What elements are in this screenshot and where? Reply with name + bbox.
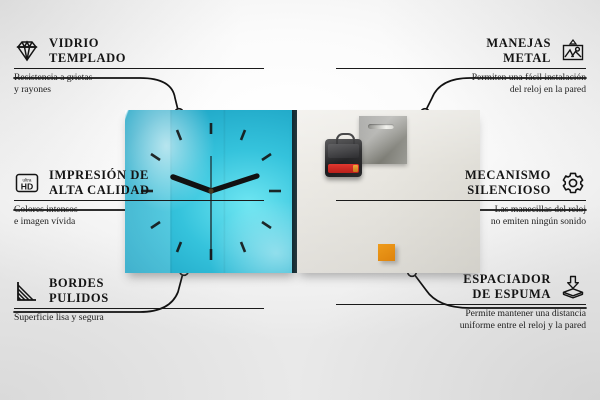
- feature-subtitle-line1: Superficie lisa y segura: [14, 312, 104, 323]
- feature-title-line1: MANEJAS: [486, 36, 551, 50]
- feature-vidrio-templado: VIDRIO TEMPLADO Resistencia a grietas y …: [14, 36, 264, 95]
- feature-subtitle-line2: uniforme entre el reloj y la pared: [460, 320, 586, 331]
- feature-mecanismo-silencioso: MECANISMO SILENCIOSO Las manecillas del …: [336, 168, 586, 227]
- metal-hanger-plate: [359, 116, 407, 164]
- feature-header: MANEJAS METAL: [336, 36, 586, 65]
- feature-title: ESPACIADOR DE ESPUMA: [463, 272, 551, 301]
- feature-subtitle-line2: del reloj en la pared: [510, 84, 586, 95]
- feature-title: MECANISMO SILENCIOSO: [465, 168, 551, 197]
- feature-subtitle: Las manecillas del reloj no emiten ningú…: [336, 204, 586, 227]
- feature-subtitle-line1: Permite mantener una distancia: [465, 308, 586, 319]
- svg-text:HD: HD: [21, 181, 33, 191]
- feature-divider: [14, 308, 264, 309]
- feature-title: MANEJAS METAL: [486, 36, 551, 65]
- feature-subtitle: Permite mantener una distancia uniforme …: [336, 308, 586, 331]
- feature-subtitle-line1: Colores intensos: [14, 204, 78, 215]
- feature-title-line2: METAL: [503, 51, 551, 65]
- feature-bordes-pulidos: BORDES PULIDOS Superficie lisa y segura: [14, 276, 264, 324]
- feature-subtitle-line1: Permiten una fácil instalación: [472, 72, 586, 83]
- feature-subtitle-line1: Las manecillas del reloj: [495, 204, 586, 215]
- movement-hanging-loop: [336, 133, 355, 144]
- feature-subtitle: Superficie lisa y segura: [14, 312, 264, 324]
- beveled-edge-icon: [14, 278, 40, 304]
- feature-divider: [336, 200, 586, 201]
- feature-divider: [14, 200, 264, 201]
- ultra-hd-icon: ultra HD: [14, 170, 40, 196]
- diamond-icon: [14, 38, 40, 64]
- foam-spacer-pad: [378, 244, 395, 261]
- feature-header: BORDES PULIDOS: [14, 276, 264, 305]
- feature-title-line2: TEMPLADO: [49, 51, 126, 65]
- feature-manejas-metal: MANEJAS METAL Permiten una fácil instala…: [336, 36, 586, 95]
- feature-title-line2: ALTA CALIDAD: [49, 183, 150, 197]
- movement-housing-detail: [328, 144, 359, 158]
- feature-title-line2: DE ESPUMA: [472, 287, 551, 301]
- feature-title: VIDRIO TEMPLADO: [49, 36, 126, 65]
- arrow-onto-pad-icon: [560, 274, 586, 300]
- feature-subtitle-line2: no emiten ningún sonido: [491, 216, 586, 227]
- feature-subtitle-line1: Resistencia a grietas: [14, 72, 92, 83]
- feature-header: ultra HD IMPRESIÓN DE ALTA CALIDAD: [14, 168, 264, 197]
- feature-divider: [336, 304, 586, 305]
- feature-title-line1: ESPACIADOR: [463, 272, 551, 286]
- feature-header: MECANISMO SILENCIOSO: [336, 168, 586, 197]
- hanger-slot: [368, 124, 394, 129]
- feature-title-line1: MECANISMO: [465, 168, 551, 182]
- feature-title-line1: IMPRESIÓN DE: [49, 168, 149, 182]
- feature-title-line2: PULIDOS: [49, 291, 109, 305]
- feature-title-line1: BORDES: [49, 276, 104, 290]
- feature-subtitle: Permiten una fácil instalación del reloj…: [336, 72, 586, 95]
- hanging-picture-icon: [560, 38, 586, 64]
- feature-subtitle-line2: y rayones: [14, 84, 51, 95]
- feature-title: BORDES PULIDOS: [49, 276, 109, 305]
- feature-divider: [14, 68, 264, 69]
- feature-espaciador-espuma: ESPACIADOR DE ESPUMA Permite mantener un…: [336, 272, 586, 331]
- feature-title: IMPRESIÓN DE ALTA CALIDAD: [49, 168, 150, 197]
- feature-subtitle: Colores intensos e imagen vívida: [14, 204, 264, 227]
- gear-icon: [560, 170, 586, 196]
- feature-header: ESPACIADOR DE ESPUMA: [336, 272, 586, 301]
- feature-subtitle-line2: e imagen vívida: [14, 216, 75, 227]
- infographic-canvas: VIDRIO TEMPLADO Resistencia a grietas y …: [0, 0, 600, 400]
- feature-title-line2: SILENCIOSO: [467, 183, 551, 197]
- feature-impresion-alta-calidad: ultra HD IMPRESIÓN DE ALTA CALIDAD Color…: [14, 168, 264, 227]
- feature-subtitle: Resistencia a grietas y rayones: [14, 72, 264, 95]
- feature-title-line1: VIDRIO: [49, 36, 99, 50]
- feature-divider: [336, 68, 586, 69]
- feature-header: VIDRIO TEMPLADO: [14, 36, 264, 65]
